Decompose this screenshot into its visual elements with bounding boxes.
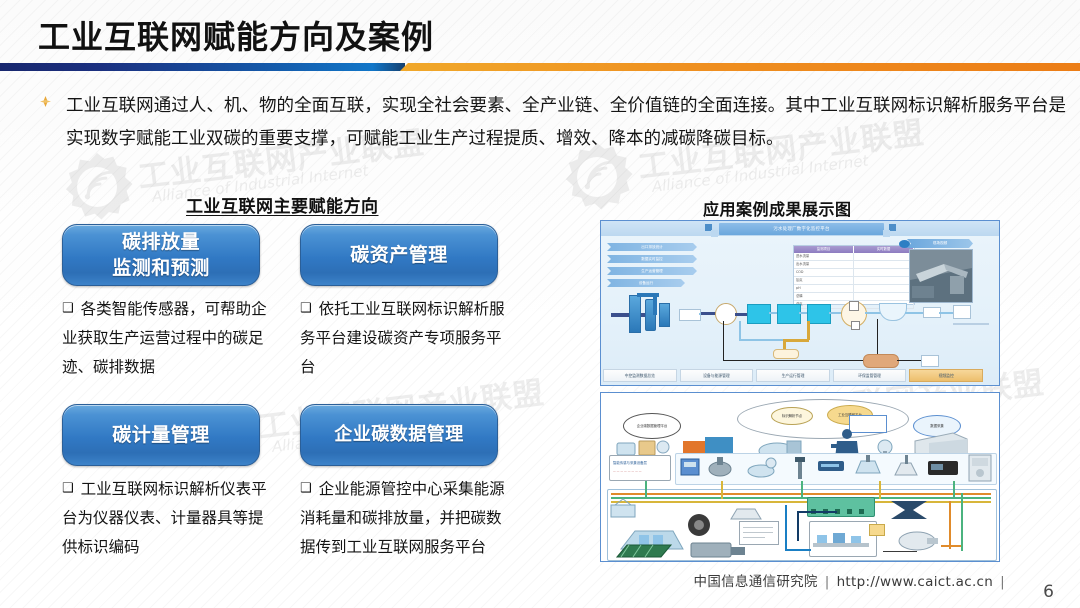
scada-title-text: 污水处理厂数字化监控平台 [773, 226, 829, 232]
table-cell [854, 261, 914, 268]
plant-pump-icon [685, 511, 715, 537]
tab-label: 视频监控 [939, 373, 954, 379]
camera-still-image [910, 250, 972, 302]
scada-menu-item-2[interactable]: 生产运营管理 [607, 267, 697, 275]
table-cell [854, 253, 914, 260]
data-link-navy-vertical [797, 511, 799, 541]
scada-tab-4-active[interactable]: 视频监控 [909, 369, 983, 382]
drop-line-green-2 [801, 481, 803, 499]
drop-line-green-1 [645, 481, 647, 499]
drop-line-green-3 [953, 481, 955, 499]
pill-label: 碳计量管理 [112, 422, 210, 448]
table-cell [854, 293, 914, 300]
scada-process-monitoring-screenshot[interactable]: 污水处理厂数字化监控平台 出口排放统计 数据实时监控 生产运营管理 设备运行 监… [600, 220, 1000, 386]
scada-tab-bar[interactable]: 中控监测数据总览 设备与能源管理 生产运行管理 环保监管管理 视频监控 [603, 369, 983, 382]
card-body-content: 企业能源管控中心采集能源消耗量和碳排放量，并把碳数据传到工业互联网服务平台 [300, 480, 505, 556]
cloud-node-0: 标识解析节点 [771, 407, 813, 425]
scada-left-square-icon-2 [711, 230, 718, 237]
card-body-text: ❑工业互联网标识解析仪表平台为仪器仪表、计量器具等提供标识编码 [62, 474, 268, 562]
panel-line-2 [743, 532, 773, 533]
device-meter-icon [967, 453, 993, 483]
pipe-seg-6 [865, 312, 881, 314]
scada-right-square-icon [889, 224, 896, 231]
panel-line-3 [743, 537, 765, 538]
table-row: 进水流量 [794, 253, 914, 261]
pipe-seg-3 [769, 312, 777, 314]
intro-paragraph: 工业互联网通过人、机、物的全面互联，实现全社会要素、全产业链、全价值链的全面连接… [66, 90, 1066, 156]
menu-label: 设备运行 [639, 281, 653, 286]
page-number: 6 [1043, 582, 1054, 602]
page-title: 工业互联网赋能方向及案例 [38, 12, 434, 58]
card-body-text: ❑依托工业互联网标识解析服务平台建设碳资产专项服务平台 [300, 294, 506, 382]
return-line-green [961, 493, 963, 551]
bubble-label: 数据采集 [930, 424, 944, 428]
status-indicator-box [869, 524, 885, 536]
scada-right-square-icon-2 [883, 230, 890, 237]
plant-solar-panels-icon [615, 543, 673, 559]
valve-icon-1 [849, 301, 859, 311]
device-sensor-array-icon [853, 455, 883, 481]
aeration-tank-1 [747, 304, 771, 324]
device-temperature-sensor-icon [891, 455, 921, 481]
table-row: COD [794, 269, 914, 277]
tab-label: 生产运行管理 [782, 373, 805, 379]
effluent-basin [879, 303, 907, 321]
menu-label: 出口排放统计 [641, 245, 663, 250]
slide-canvas: 工业互联网产业联盟 Alliance of Industrial Interne… [0, 0, 1080, 608]
card-enterprise-carbon-data-management[interactable]: 企业碳数据管理 ❑企业能源管控中心采集能源消耗量和碳排放量，并把碳数据传到工业互… [300, 404, 498, 562]
card-body-content: 工业互联网标识解析仪表平台为仪器仪表、计量器具等提供标识编码 [62, 480, 267, 556]
watermark-en-text: Alliance of Industrial Internet [651, 152, 869, 196]
pipe-seg-4 [799, 312, 807, 314]
process-tank-3 [659, 303, 670, 327]
cross-pipe [637, 293, 659, 297]
square-bullet-icon: ❑ [62, 481, 74, 496]
pill-label: 碳资产管理 [350, 242, 448, 268]
square-bullet-icon: ❑ [300, 301, 312, 316]
output-line-dark [883, 551, 917, 552]
gear-wifi-logo-icon [60, 150, 134, 224]
footer-url[interactable]: http://www.caict.ac.cn [837, 574, 994, 590]
sludge-thickener [863, 354, 899, 368]
card-carbon-emission-monitoring[interactable]: 碳排放量监测和预测 ❑各类智能传感器，可帮助企业获取生产运营过程中的碳足迹、碳排… [62, 224, 260, 382]
device-inverter-icon [679, 457, 703, 479]
bubble-label: 企业碳数据管理平台 [637, 424, 668, 428]
dosing-line-vertical [807, 321, 810, 340]
table-cell [854, 277, 914, 284]
data-link-blue-horizontal [785, 549, 811, 551]
scada-data-table: 监测项目 实时数据 进水流量 出水流量 COD 氨氮 pH 总磷 总氮 [793, 245, 915, 305]
cloud-node-label: 标识解析节点 [782, 414, 802, 418]
chemical-dosing-tank [773, 349, 799, 359]
return-line-orange-h [941, 545, 961, 547]
plant-control-panel [739, 521, 779, 545]
square-bullet-icon: ❑ [300, 481, 312, 496]
pipe-seg-7 [905, 312, 923, 314]
outlet-unit [953, 305, 971, 319]
card-body-content: 各类智能传感器，可帮助企业获取生产运营过程中的碳足迹、碳排数据 [62, 300, 267, 376]
title-divider-rule [0, 62, 1080, 71]
outlet-line [953, 323, 989, 325]
table-row: pH [794, 285, 914, 293]
menu-label: 生产运营管理 [641, 269, 663, 274]
card-body-text: ❑企业能源管控中心采集能源消耗量和碳排放量，并把碳数据传到工业互联网服务平台 [300, 474, 506, 562]
table-cell: 进水流量 [794, 253, 854, 260]
plant-mixer-icon [889, 499, 929, 521]
table-header-cell: 监测项目 [794, 246, 854, 253]
dosing-line [783, 339, 809, 342]
scada-canvas: 污水处理厂数字化监控平台 出口排放统计 数据实时监控 生产运营管理 设备运行 监… [601, 221, 999, 385]
scada-menu-item-3[interactable]: 设备运行 [607, 279, 685, 287]
camera-label-chip: 现场视频 [907, 239, 973, 248]
device-level-probe-icon [793, 457, 807, 481]
tab-label: 设备与能源管理 [703, 373, 730, 379]
pill-button-carbon-emission-monitoring[interactable]: 碳排放量监测和预测 [62, 224, 260, 286]
aeration-tank-2 [777, 304, 801, 324]
clarifier-unit [715, 303, 737, 325]
left-section-heading: 工业互联网主要赋能方向 [186, 192, 379, 217]
sludge-return-horizontal [723, 360, 863, 361]
data-link-blue-vertical [785, 505, 787, 551]
table-row: 氨氮 [794, 277, 914, 285]
square-bullet-icon: ❑ [62, 301, 74, 316]
scada-menu-item-1[interactable]: 数据实时监控 [607, 255, 697, 263]
footer-org: 中国信息通信研究院 [694, 574, 818, 590]
return-line-orange [949, 501, 951, 549]
card-body-content: 依托工业互联网标识解析服务平台建设碳资产专项服务平台 [300, 300, 505, 376]
pill-button-carbon-metering-management[interactable]: 碳计量管理 [62, 404, 260, 466]
panel-line-1 [743, 527, 773, 528]
sludge-press-unit [921, 355, 939, 367]
lane-label-text: 智能传感与采集设备层 [613, 460, 647, 465]
sludge-discharge-line [897, 360, 921, 361]
sludge-return-vertical [723, 321, 724, 361]
camera-label-text: 现场视频 [933, 241, 947, 246]
table-cell: 氨氮 [794, 277, 854, 284]
table-cell: pH [794, 285, 854, 292]
diamond-bullet-icon [40, 96, 51, 107]
table-row: 出水流量 [794, 261, 914, 269]
pipe-seg-2 [735, 313, 747, 316]
table-cell: COD [794, 269, 854, 276]
tab-label: 中控监测数据总览 [625, 373, 655, 379]
bus-line-yellow [611, 501, 991, 503]
card-carbon-metering-management[interactable]: 碳计量管理 ❑工业互联网标识解析仪表平台为仪器仪表、计量器具等提供标识编码 [62, 404, 260, 562]
pill-button-carbon-asset-management[interactable]: 碳资产管理 [300, 224, 498, 286]
architecture-canvas: 标识解析节点 工业互联网平台 企业碳数据管理平台 数据采集 [601, 393, 999, 561]
divider-blue-segment [0, 63, 405, 71]
drop-line-yellow-2 [879, 481, 881, 499]
table-cell: 总磷 [794, 293, 854, 300]
process-unit-white-1 [679, 309, 701, 321]
pill-label: 碳排放量监测和预测 [112, 229, 210, 281]
scada-tab-1[interactable]: 设备与能源管理 [680, 369, 754, 382]
right-section-heading: 应用案例成果展示图 [703, 196, 852, 220]
device-pressure-transmitter-icon [747, 455, 781, 481]
table-cell [854, 269, 914, 276]
scada-tab-0[interactable]: 中控监测数据总览 [603, 369, 677, 382]
recirculation-riser [739, 321, 741, 340]
drop-line-yellow-1 [721, 481, 723, 499]
card-carbon-asset-management[interactable]: 碳资产管理 ❑依托工业互联网标识解析服务平台建设碳资产专项服务平台 [300, 224, 498, 382]
card-body-text: ❑各类智能传感器，可帮助企业获取生产运营过程中的碳足迹、碳排数据 [62, 294, 268, 382]
pill-button-enterprise-carbon-data-management[interactable]: 企业碳数据管理 [300, 404, 498, 466]
aeration-tank-3 [807, 304, 831, 324]
valve-icon-2 [851, 321, 860, 330]
process-tank-1 [629, 295, 641, 333]
camera-video-feed[interactable] [909, 249, 973, 303]
plant-tank-icon [897, 529, 939, 553]
scada-tab-2[interactable]: 生产运行管理 [756, 369, 830, 382]
data-link-navy-horizontal [797, 511, 837, 513]
table-header-row: 监测项目 实时数据 [794, 246, 914, 253]
table-cell: 出水流量 [794, 261, 854, 268]
footer-separator-2: | [1000, 574, 1005, 590]
pipe-seg-8 [939, 312, 953, 314]
lane-label-box: 智能传感与采集设备层 — — — — — — — — [609, 455, 671, 481]
footer-separator: | [825, 574, 830, 590]
menu-label: 数据实时监控 [641, 257, 663, 262]
divider-orange-segment [400, 63, 1080, 71]
table-cell [854, 285, 914, 292]
production-line-icon [813, 531, 871, 553]
device-gateway-icon [817, 457, 845, 477]
scada-title-bar: 污水处理厂数字化监控平台 [719, 223, 884, 235]
device-flowmeter-icon [707, 455, 735, 481]
table-row: 总磷 [794, 293, 914, 301]
scada-tab-3[interactable]: 环保监管管理 [833, 369, 907, 382]
device-industrial-pc-icon [927, 457, 959, 479]
scada-menu-item-0[interactable]: 出口排放统计 [607, 243, 697, 251]
tab-label: 环保监管管理 [858, 373, 881, 379]
industrial-iot-architecture-diagram[interactable]: 标识解析节点 工业互联网平台 企业碳数据管理平台 数据采集 [600, 392, 1000, 562]
pill-label: 企业碳数据管理 [334, 422, 464, 448]
footer: 中国信息通信研究院|http://www.caict.ac.cn| [694, 570, 1012, 590]
